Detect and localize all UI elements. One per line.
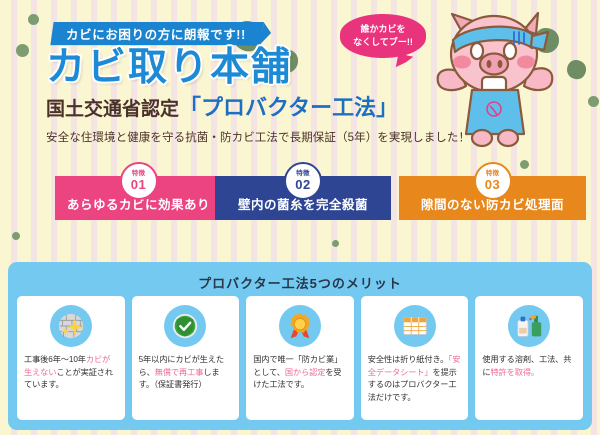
- merit-card[interactable]: 安全性は折り紙付き。「安全データシート」を提示するのはプロバクター工法だけです。: [361, 296, 469, 420]
- speech-bubble-line-2: なくしてブー!!: [353, 36, 413, 49]
- feature-badge-01: 特徴 01: [120, 162, 158, 200]
- lead-text: 安全な住環境と健康を守る抗菌・防カビ工法で長期保証（5年）を実現しました！: [46, 129, 470, 145]
- merit-card[interactable]: 国内で唯一「防カビ業」として、国から認定を受けた工法です。: [246, 296, 354, 420]
- cleaning-bottles-icon: [508, 305, 550, 347]
- mold-spot-icon: [332, 240, 339, 247]
- landing-page: カビにお困りの方に朗報です!! カビ取り本舗 国土交通省認定「プロバクター工法」…: [0, 0, 600, 435]
- brick-wall-sparkle-icon: [50, 305, 92, 347]
- merit-card-text: 工事後6年〜10年カビが生えないことが実証されています。: [24, 354, 118, 392]
- merit-card[interactable]: 使用する溶剤、工法、共に特許を取得。: [475, 296, 583, 420]
- merit-card-text: 5年以内にカビが生えたら、無償で再工事します。（保証書発行）: [139, 354, 233, 392]
- subtitle: 国土交通省認定「プロバクター工法」: [46, 97, 398, 119]
- announcement-ribbon: カビにお困りの方に朗報です!!: [50, 22, 263, 45]
- pig-mascot-icon: [432, 2, 582, 152]
- mold-spot-icon: [588, 96, 599, 107]
- merit-text-highlight: 特許を取得。: [490, 368, 539, 377]
- feature-badge-number-01: 01: [131, 178, 146, 191]
- merit-text-part: 安全性は折り紙付き。: [368, 355, 448, 364]
- merits-panel: プロバクター工法5つのメリット: [8, 262, 592, 430]
- gold-award-ribbon-icon: [279, 305, 321, 347]
- feature-box-02[interactable]: 特徴 02 壁内の菌糸を完全殺菌: [215, 176, 391, 220]
- spreadsheet-table-icon: [394, 305, 436, 347]
- mold-spot-icon: [12, 232, 20, 240]
- feature-box-01[interactable]: 特徴 01 あらゆるカビに効果あり: [55, 176, 222, 220]
- speech-bubble-line-1: 誰かカビを: [353, 23, 413, 36]
- feature-box-03[interactable]: 特徴 03 隙間のない防カビ処理面: [399, 176, 586, 220]
- merits-title: プロバクター工法5つのメリット: [8, 262, 592, 292]
- merit-text-highlight: 国から認定: [285, 368, 325, 377]
- merit-text-part: 工事後6年〜10年: [24, 355, 86, 364]
- merit-card-text: 使用する溶剤、工法、共に特許を取得。: [482, 354, 576, 379]
- green-shield-check-icon: [164, 305, 206, 347]
- merit-card-text: 国内で唯一「防カビ業」として、国から認定を受けた工法です。: [253, 354, 347, 392]
- subtitle-method-name: 「プロバクター工法」: [179, 95, 398, 120]
- mold-spot-icon: [16, 44, 29, 57]
- mold-spot-icon: [520, 160, 529, 169]
- mold-spot-icon: [28, 14, 39, 25]
- mascot-speech-bubble: 誰かカビを なくしてブー!!: [340, 14, 426, 58]
- feature-badge-03: 特徴 03: [474, 162, 512, 200]
- subtitle-certification: 国土交通省認定: [46, 99, 179, 120]
- merit-card[interactable]: 5年以内にカビが生えたら、無償で再工事します。（保証書発行）: [132, 296, 240, 420]
- announcement-ribbon-text: カビにお困りの方に朗報です!!: [66, 24, 246, 43]
- page-title: カビ取り本舗: [46, 48, 292, 87]
- merit-card-text: 安全性は折り紙付き。「安全データシート」を提示するのはプロバクター工法だけです。: [368, 354, 462, 405]
- feature-badge-number-03: 03: [485, 178, 500, 191]
- merit-text-highlight: 無償で再工事: [155, 368, 204, 377]
- feature-badge-02: 特徴 02: [284, 162, 322, 200]
- merit-card-list: 工事後6年〜10年カビが生えないことが実証されています。 5年以内にカビが生えた…: [17, 296, 583, 420]
- feature-boxes: 特徴 01 あらゆるカビに効果あり 特徴 02 壁内の菌糸を完全殺菌 特徴 03…: [0, 176, 600, 220]
- merit-card[interactable]: 工事後6年〜10年カビが生えないことが実証されています。: [17, 296, 125, 420]
- feature-badge-number-02: 02: [295, 178, 310, 191]
